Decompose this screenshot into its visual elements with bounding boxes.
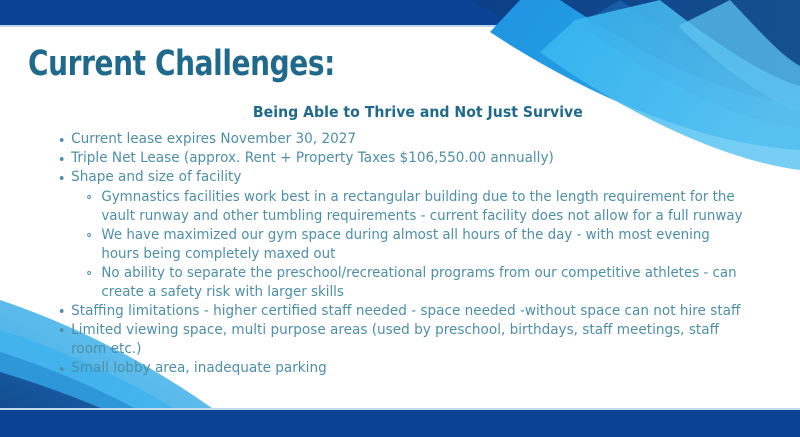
bullet-marker-icon — [60, 138, 64, 142]
list-item-text: Triple Net Lease (approx. Rent + Propert… — [71, 149, 746, 168]
hollow-bullet-marker-icon — [87, 233, 91, 237]
bullet-list: Current lease expires November 30, 2027 … — [56, 130, 786, 378]
list-item-text: Small lobby area, inadequate parking — [71, 359, 746, 378]
bullet-marker-icon — [60, 367, 64, 371]
hollow-bullet-marker-icon — [87, 195, 91, 199]
page-title: Current Challenges: — [28, 44, 335, 84]
sub-list-item-text: We have maximized our gym space during a… — [101, 226, 745, 264]
list-item: Limited viewing space, multi purpose are… — [56, 321, 746, 359]
list-item: Triple Net Lease (approx. Rent + Propert… — [56, 149, 746, 168]
sub-list-item: We have maximized our gym space during a… — [56, 226, 746, 264]
bullet-marker-icon — [60, 157, 64, 161]
list-item-text: Limited viewing space, multi purpose are… — [71, 321, 746, 359]
list-item-text: Current lease expires November 30, 2027 — [71, 130, 746, 149]
sub-list-item-text: Gymnastics facilities work best in a rec… — [101, 188, 745, 226]
bullet-marker-icon — [60, 176, 64, 180]
hollow-bullet-marker-icon — [87, 271, 91, 275]
page-subtitle: Being Able to Thrive and Not Just Surviv… — [24, 103, 776, 121]
list-item: Small lobby area, inadequate parking — [56, 359, 746, 378]
list-item: Current lease expires November 30, 2027 — [56, 130, 746, 149]
sub-list-item: No ability to separate the preschool/rec… — [56, 264, 746, 302]
sub-list-item: Gymnastics facilities work best in a rec… — [56, 188, 746, 226]
bullet-marker-icon — [60, 328, 64, 332]
list-item: Staffing limitations - higher certified … — [56, 302, 746, 321]
slide: Current Challenges: Being Able to Thrive… — [0, 0, 800, 437]
list-item-text: Shape and size of facility — [71, 168, 746, 187]
list-item: Shape and size of facility — [56, 168, 746, 187]
list-item-text: Staffing limitations - higher certified … — [71, 302, 746, 321]
sub-list-item-text: No ability to separate the preschool/rec… — [101, 264, 745, 302]
bullet-marker-icon — [60, 309, 64, 313]
